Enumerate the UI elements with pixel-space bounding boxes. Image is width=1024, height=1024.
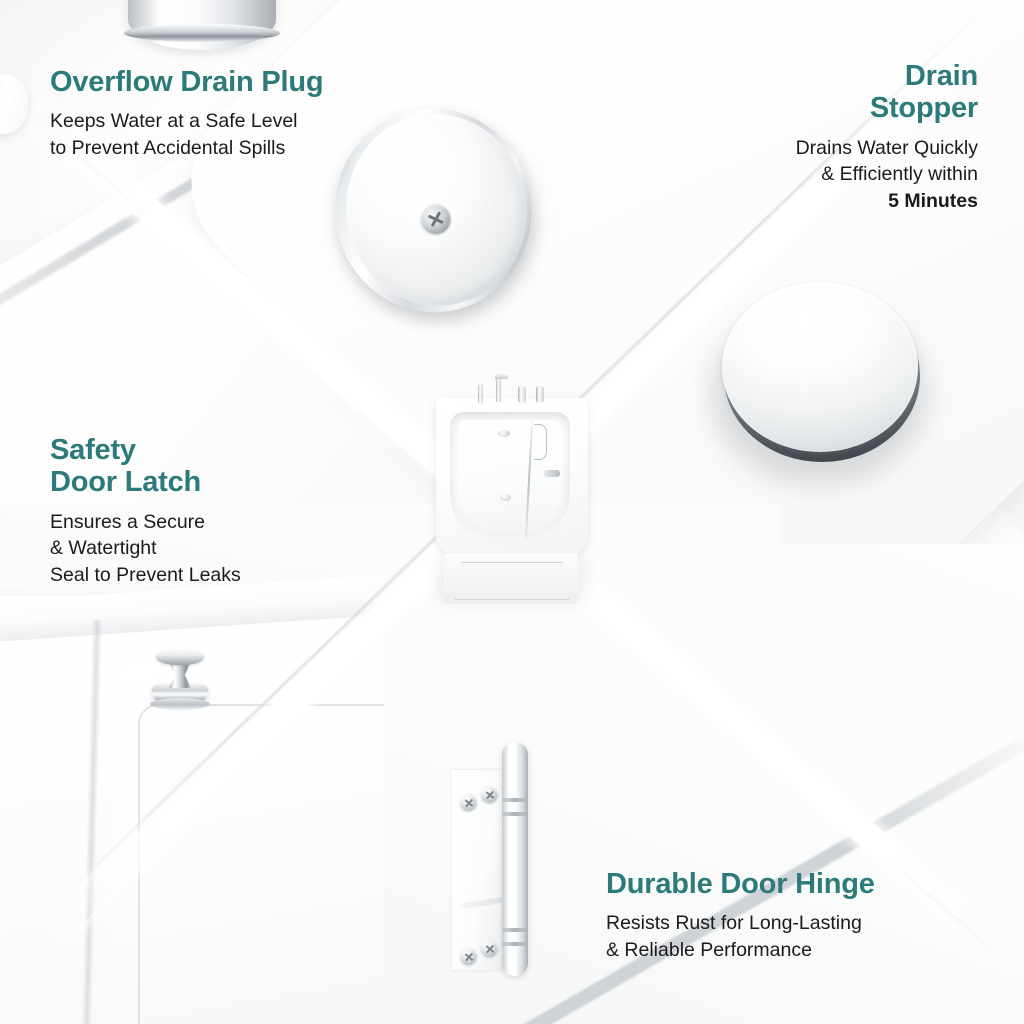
callout-heading-safety-door-latch: Safety Door Latch: [50, 434, 380, 499]
hinge-screw: [481, 786, 498, 803]
tub-apron-inset-panel: [454, 562, 570, 600]
chrome-faucet-base-ring: [124, 24, 280, 42]
body-line: Keeps Water at a Safe Level: [50, 110, 298, 132]
heading-line: Door Latch: [50, 466, 201, 498]
tub-floor-drain: [500, 494, 511, 501]
body-line: & Watertight: [50, 537, 157, 559]
door-hinge-photo: [452, 742, 536, 976]
tub-faucet-spout: [496, 376, 501, 402]
callout-overflow-drain-plug: Overflow Drain Plug Keeps Water at a Saf…: [50, 66, 470, 161]
drain-stopper-photo: [722, 282, 922, 468]
tub-door-handle: [544, 470, 560, 477]
body-line: Ensures a Secure: [50, 511, 205, 533]
tub-faucet-handle: [536, 386, 544, 403]
body-line: & Reliable Performance: [606, 939, 812, 961]
tub-overflow-drain: [498, 430, 510, 437]
body-line: Seal to Prevent Leaks: [50, 564, 241, 586]
hinge-knuckle-seam: [502, 798, 528, 802]
tub-faucet-handle: [518, 386, 526, 403]
callout-body-durable-door-hinge: Resists Rust for Long-Lasting & Reliable…: [606, 910, 1006, 963]
hinge-knuckle-seam: [502, 812, 528, 816]
body-emphasis-duration: 5 Minutes: [888, 190, 978, 212]
product-feature-infographic: Overflow Drain Plug Keeps Water at a Saf…: [0, 0, 1024, 1024]
walk-in-bathtub-product-photo: [430, 372, 594, 614]
tub-handheld-shower: [478, 384, 483, 404]
callout-body-overflow-drain-plug: Keeps Water at a Safe Level to Prevent A…: [50, 108, 470, 161]
safety-door-latch-photo: [148, 648, 212, 714]
callout-drain-stopper: Drain Stopper Drains Water Quickly & Eff…: [648, 60, 978, 214]
body-line: & Efficiently within: [821, 163, 978, 185]
callout-durable-door-hinge: Durable Door Hinge Resists Rust for Long…: [606, 868, 1006, 963]
latch-neck: [169, 662, 191, 688]
hinge-screw: [460, 794, 477, 811]
drain-stopper-top-surface: [722, 282, 918, 452]
callout-heading-drain-stopper: Drain Stopper: [648, 60, 978, 125]
body-line: Drains Water Quickly: [796, 137, 978, 159]
callout-heading-durable-door-hinge: Durable Door Hinge: [606, 868, 1006, 900]
heading-line: Stopper: [870, 92, 978, 124]
body-line: to Prevent Accidental Spills: [50, 137, 285, 159]
hinge-barrel-knuckle: [502, 742, 528, 976]
hinge-knuckle-seam: [502, 942, 528, 946]
hinge-screw: [460, 948, 477, 965]
heading-line: Safety: [50, 434, 136, 466]
callout-safety-door-latch: Safety Door Latch Ensures a Secure & Wat…: [50, 434, 380, 588]
latch-base-ring: [150, 698, 210, 710]
hinge-screw: [481, 940, 498, 957]
callout-body-safety-door-latch: Ensures a Secure & Watertight Seal to Pr…: [50, 509, 380, 588]
callout-body-drain-stopper: Drains Water Quickly & Efficiently withi…: [648, 135, 978, 214]
callout-heading-overflow-drain-plug: Overflow Drain Plug: [50, 66, 470, 98]
hinge-knuckle-seam: [502, 928, 528, 932]
heading-line: Drain: [905, 60, 978, 92]
body-line: Resists Rust for Long-Lasting: [606, 912, 862, 934]
tub-grab-bar: [534, 424, 547, 460]
latch-cap: [156, 648, 204, 665]
